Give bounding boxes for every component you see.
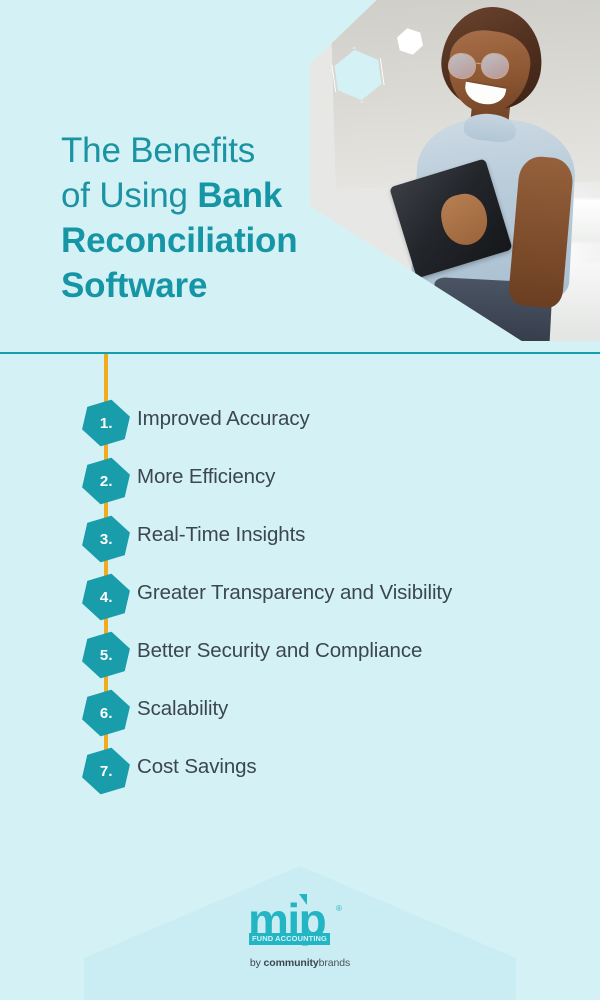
title-line-1: The Benefits — [61, 131, 255, 170]
list-item-label: Scalability — [137, 697, 228, 721]
title-line-2-light: of Using — [61, 176, 197, 215]
badge-number: 5. — [100, 647, 113, 664]
footer-logo: mip ® FUND ACCOUNTING by communitybrands — [0, 902, 600, 969]
number-badge-hexagon: 3. — [79, 511, 133, 568]
list-item[interactable]: 2. More Efficiency — [0, 457, 600, 497]
mip-tagline: FUND ACCOUNTING — [249, 933, 330, 945]
byline-brands: brands — [319, 957, 351, 969]
list-item-label: Improved Accuracy — [137, 407, 310, 431]
list-item-label: Cost Savings — [137, 755, 257, 779]
list-item-label: Real-Time Insights — [137, 523, 305, 547]
registered-trademark-icon: ® — [336, 904, 342, 913]
number-badge-hexagon: 7. — [79, 743, 133, 800]
list-item-label: Greater Transparency and Visibility — [137, 581, 452, 605]
badge-number: 3. — [100, 531, 113, 548]
eyeglasses-bridge — [476, 62, 482, 64]
badge-number: 4. — [100, 589, 113, 606]
badge-number: 1. — [100, 415, 113, 432]
number-badge-hexagon: 1. — [79, 395, 133, 452]
community-brands-byline: by communitybrands — [250, 957, 350, 969]
badge-number: 7. — [100, 763, 113, 780]
list-item[interactable]: 7. Cost Savings — [0, 747, 600, 787]
number-badge-hexagon: 5. — [79, 627, 133, 684]
title-line-4: Software — [61, 266, 207, 305]
number-badge-hexagon: 6. — [79, 685, 133, 742]
badge-number: 6. — [100, 705, 113, 722]
benefits-list: 1. Improved Accuracy 2. More Efficiency … — [0, 354, 600, 800]
title-line-2-bold: Bank — [197, 176, 282, 215]
list-item[interactable]: 6. Scalability — [0, 689, 600, 729]
number-badge-hexagon: 4. — [79, 569, 133, 626]
list-item[interactable]: 5. Better Security and Compliance — [0, 631, 600, 671]
badge-number: 2. — [100, 473, 113, 490]
page-title: The Benefitsof Using BankReconciliationS… — [61, 128, 381, 308]
list-item-label: Better Security and Compliance — [137, 639, 422, 663]
list-item[interactable]: 1. Improved Accuracy — [0, 399, 600, 439]
list-item-label: More Efficiency — [137, 465, 275, 489]
list-item[interactable]: 4. Greater Transparency and Visibility — [0, 573, 600, 613]
mip-logo-mark: mip ® FUND ACCOUNTING — [248, 902, 352, 948]
number-badge-hexagon: 2. — [79, 453, 133, 510]
hero-section: The Benefitsof Using BankReconciliationS… — [0, 0, 600, 353]
byline-community: community — [264, 957, 319, 969]
title-line-3: Reconciliation — [61, 221, 297, 260]
list-item[interactable]: 3. Real-Time Insights — [0, 515, 600, 555]
infographic-page: The Benefitsof Using BankReconciliationS… — [0, 0, 600, 1000]
byline-prefix: by — [250, 957, 264, 969]
